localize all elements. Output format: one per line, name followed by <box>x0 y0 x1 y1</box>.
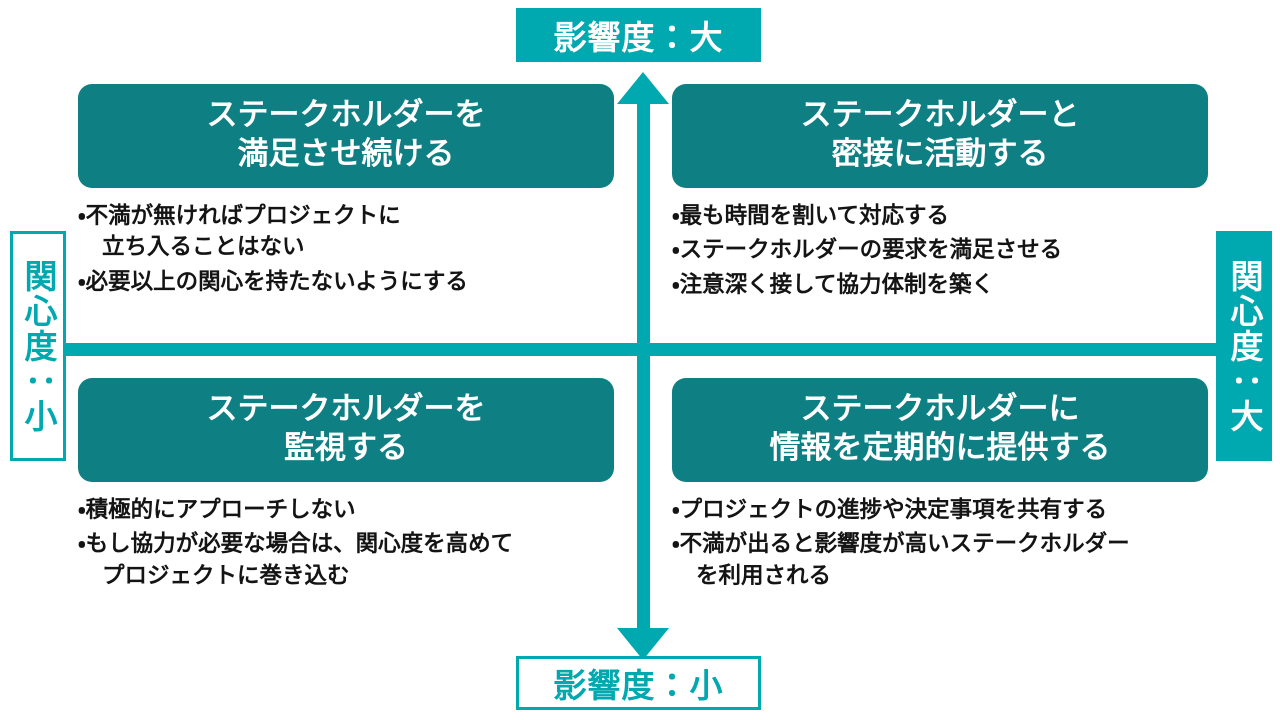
list-item: ・プロジェクトの進捗や決定事項を共有する <box>672 494 1212 526</box>
axis-label-impact-low: 影響度：小 <box>516 656 761 710</box>
bullet-text: ・積極的にアプローチしない <box>78 497 356 522</box>
axis-label-interest-low: 関心度：小 <box>10 231 66 461</box>
header-line-2: 満足させ続ける <box>88 135 604 174</box>
quadrant-top-left-bullets: ・不満が無ければプロジェクトに 立ち入ることはない ・必要以上の関心を持たないよ… <box>78 200 618 299</box>
vertical-axis-line <box>637 88 650 648</box>
quadrant-top-left: ステークホルダーを 満足させ続ける ・不満が無ければプロジェクトに 立ち入ること… <box>78 84 618 301</box>
bullet-text: ・もし協力が必要な場合は、関心度を高めて <box>78 531 513 556</box>
bullet-text-continuation: プロジェクトに巻き込む <box>98 560 618 592</box>
bullet-text: ・不満が無ければプロジェクトに <box>78 203 401 228</box>
quadrant-top-left-header: ステークホルダーを 満足させ続ける <box>78 84 614 188</box>
header-line-1: ステークホルダーと <box>682 96 1198 135</box>
quadrant-top-right: ステークホルダーと 密接に活動する ・最も時間を割いて対応する ・ステークホルダ… <box>672 84 1212 304</box>
header-line-2: 密接に活動する <box>682 135 1198 174</box>
stakeholder-matrix-diagram: 影響度：大 影響度：小 関心度：小 関心度：大 ステークホルダーを 満足させ続け… <box>0 0 1280 720</box>
quadrant-bottom-left-header: ステークホルダーを 監視する <box>78 378 614 482</box>
header-line-2: 情報を定期的に提供する <box>682 429 1198 468</box>
list-item: ・最も時間を割いて対応する <box>672 200 1212 232</box>
quadrant-bottom-right-bullets: ・プロジェクトの進捗や決定事項を共有する ・不満が出ると影響度が高いステークホル… <box>672 494 1212 593</box>
quadrant-bottom-right-header: ステークホルダーに 情報を定期的に提供する <box>672 378 1208 482</box>
bullet-text: ・注意深く接して協力体制を築く <box>672 272 994 297</box>
header-line-1: ステークホルダーを <box>88 390 604 429</box>
header-line-2: 監視する <box>88 429 604 468</box>
arrow-up-icon <box>617 72 669 104</box>
bullet-text-continuation: 立ち入ることはない <box>98 231 618 263</box>
header-line-1: ステークホルダーに <box>682 390 1198 429</box>
axis-label-impact-high: 影響度：大 <box>516 8 761 62</box>
bullet-text-continuation: を利用される <box>692 560 1212 592</box>
quadrant-bottom-left: ステークホルダーを 監視する ・積極的にアプローチしない ・もし協力が必要な場合… <box>78 378 618 595</box>
quadrant-bottom-right: ステークホルダーに 情報を定期的に提供する ・プロジェクトの進捗や決定事項を共有… <box>672 378 1212 595</box>
bullet-text: ・不満が出ると影響度が高いステークホルダー <box>672 531 1130 556</box>
list-item: ・注意深く接して協力体制を築く <box>672 269 1212 301</box>
list-item: ・不満が出ると影響度が高いステークホルダー を利用される <box>672 528 1212 592</box>
list-item: ・積極的にアプローチしない <box>78 494 618 526</box>
axis-label-interest-high: 関心度：大 <box>1216 231 1272 461</box>
bullet-text: ・最も時間を割いて対応する <box>672 203 949 228</box>
list-item: ・ステークホルダーの要求を満足させる <box>672 234 1212 266</box>
bullet-text: ・必要以上の関心を持たないようにする <box>78 269 468 294</box>
list-item: ・必要以上の関心を持たないようにする <box>78 266 618 298</box>
quadrant-bottom-left-bullets: ・積極的にアプローチしない ・もし協力が必要な場合は、関心度を高めて プロジェク… <box>78 494 618 593</box>
list-item: ・もし協力が必要な場合は、関心度を高めて プロジェクトに巻き込む <box>78 528 618 592</box>
header-line-1: ステークホルダーを <box>88 96 604 135</box>
quadrant-top-right-bullets: ・最も時間を割いて対応する ・ステークホルダーの要求を満足させる ・注意深く接し… <box>672 200 1212 302</box>
list-item: ・不満が無ければプロジェクトに 立ち入ることはない <box>78 200 618 264</box>
quadrant-top-right-header: ステークホルダーと 密接に活動する <box>672 84 1208 188</box>
bullet-text: ・ステークホルダーの要求を満足させる <box>672 237 1062 262</box>
bullet-text: ・プロジェクトの進捗や決定事項を共有する <box>672 497 1107 522</box>
